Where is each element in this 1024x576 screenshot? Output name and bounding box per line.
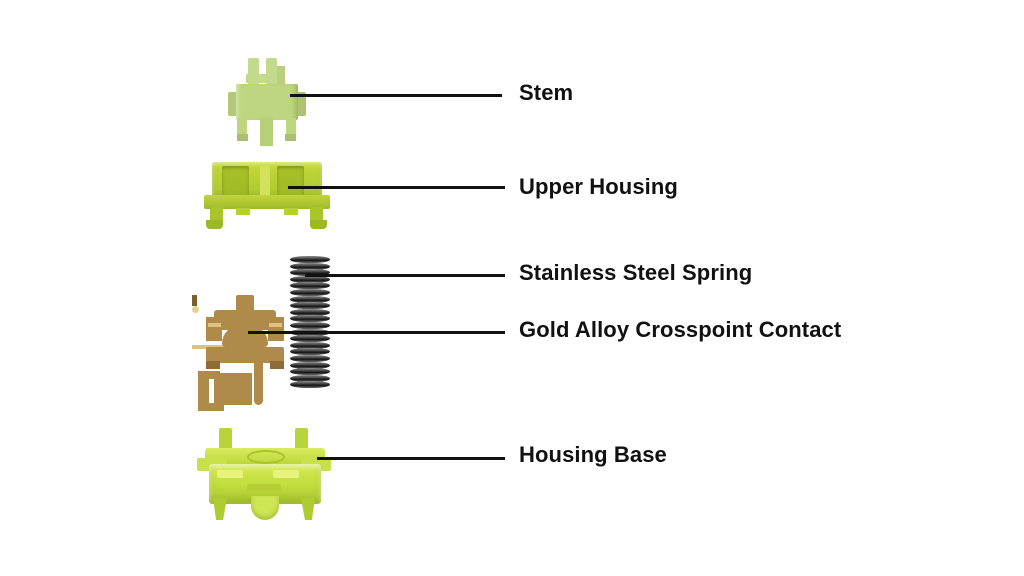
housing-base-foot-left [213, 498, 227, 520]
stem-body [236, 84, 298, 120]
contact-lower-hook [198, 371, 220, 379]
label-housing-base: Housing Base [519, 444, 667, 466]
upper-housing-clip-left [206, 220, 223, 229]
contact-center-notch [192, 295, 197, 306]
leader-line-housing-base [317, 457, 505, 460]
housing-base-slot-right [273, 470, 299, 478]
contact-leaf-dome [222, 325, 268, 347]
upper-housing-tab-right [284, 208, 298, 215]
contact-cutout-right [192, 323, 205, 333]
housing-base-ridge [247, 484, 281, 491]
stem-cross-mount-nub [277, 66, 285, 86]
leader-line-stem [290, 94, 502, 97]
contact-lower-foot [198, 403, 224, 411]
housing-base-slot-left [217, 470, 243, 478]
label-upper-housing: Upper Housing [519, 176, 678, 198]
contact-foot-left [206, 361, 220, 369]
contact-foot-right [270, 361, 284, 369]
upper-housing-center-rib [260, 166, 270, 198]
leader-line-upper-housing [288, 186, 505, 189]
contact-highlight-right [269, 323, 282, 327]
upper-housing-clip-right [310, 220, 327, 229]
stem-foot-right [285, 134, 296, 141]
upper-housing-cavity-right [277, 166, 304, 196]
upper-housing-cavity-left [222, 166, 249, 196]
part-stem [228, 58, 324, 143]
spring-coil-turn [290, 256, 330, 263]
stem-cross-mount-bar [246, 74, 279, 83]
label-crosspoint-contact: Gold Alloy Crosspoint Contact [519, 319, 841, 341]
contact-cutout-left [192, 313, 205, 323]
part-crosspoint-contact [192, 295, 302, 413]
leader-line-crosspoint-contact [248, 331, 505, 334]
housing-base-stem-well [247, 450, 285, 464]
part-housing-base [195, 428, 335, 523]
label-spring: Stainless Steel Spring [519, 262, 752, 284]
contact-pin-tail [254, 361, 263, 405]
contact-wing-left [206, 317, 222, 341]
stem-foot-left [237, 134, 248, 141]
leader-line-spring [305, 274, 505, 277]
label-stem: Stem [519, 82, 573, 104]
contact-crosspoint-dot [192, 306, 199, 313]
housing-base-foot-right [301, 498, 315, 520]
housing-base-center-post [251, 496, 279, 520]
switch-exploded-diagram: Stem Upper Housing Stainless Steel Sprin… [0, 0, 1024, 576]
contact-highlight-left [208, 323, 221, 327]
contact-wing-right [268, 317, 284, 341]
upper-housing-tab-left [236, 208, 250, 215]
part-upper-housing [204, 162, 332, 230]
stem-center-post [260, 118, 273, 146]
